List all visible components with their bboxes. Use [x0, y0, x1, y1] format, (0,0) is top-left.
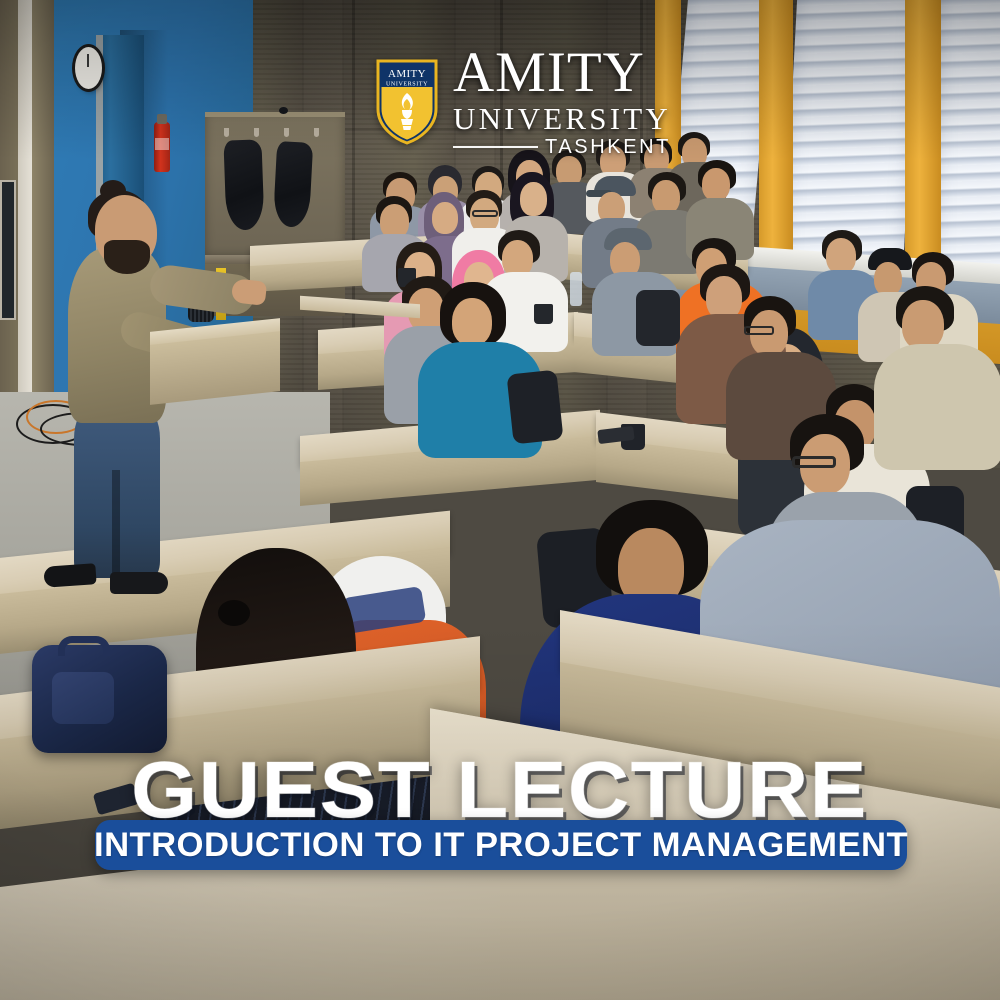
- coat-hook: [254, 128, 259, 137]
- coat-hook: [314, 128, 319, 137]
- svg-text:UNIVERSITY: UNIVERSITY: [386, 81, 428, 87]
- wall-clock-icon: [75, 47, 102, 89]
- wordmark-amity: AMITY: [453, 44, 671, 101]
- subtitle-banner: INTRODUCTION TO IT PROJECT MANAGEMENT: [95, 820, 907, 870]
- wordmark-tashkent: TASHKENT: [545, 137, 671, 157]
- security-camera-icon: [279, 107, 288, 114]
- amity-shield-logo-icon: AMITY UNIVERSITY: [375, 57, 439, 145]
- headline-block: GUEST LECTURE: [0, 752, 1000, 827]
- chair-back: [506, 370, 563, 445]
- whiteboard-edge: [0, 180, 16, 320]
- backpack-pocket: [52, 672, 114, 724]
- coat-hook: [224, 128, 229, 137]
- amity-logo-lockup: AMITY UNIVERSITY AMITY UNIVERSITY TASHKE…: [375, 44, 671, 157]
- window-blind: [935, 0, 1000, 290]
- chair-back: [636, 290, 680, 346]
- event-poster: AMITY UNIVERSITY AMITY UNIVERSITY TASHKE…: [0, 0, 1000, 1000]
- wordmark-university: UNIVERSITY: [453, 103, 671, 134]
- lecturer-shoe: [110, 572, 168, 594]
- subtitle-text: INTRODUCTION TO IT PROJECT MANAGEMENT: [94, 826, 908, 865]
- lecturer-shoe: [43, 563, 96, 588]
- lecturer-beard: [104, 240, 150, 274]
- hair-tie: [218, 600, 250, 626]
- coffee-cup: [534, 304, 553, 324]
- wordmark-tashkent-row: TASHKENT: [453, 137, 671, 157]
- amity-wordmark: AMITY UNIVERSITY TASHKENT: [453, 44, 671, 157]
- lecturer-leg-gap: [112, 470, 120, 580]
- svg-text:AMITY: AMITY: [388, 68, 426, 80]
- hanging-coat: [223, 139, 264, 230]
- backpack-handle: [58, 636, 110, 656]
- water-bottle: [570, 272, 582, 306]
- wordmark-rule: [453, 146, 538, 148]
- fire-extinguisher-label: [155, 138, 169, 150]
- coat-hook: [284, 128, 289, 137]
- headline-title: GUEST LECTURE: [132, 752, 869, 827]
- fire-extinguisher-nozzle: [157, 114, 167, 124]
